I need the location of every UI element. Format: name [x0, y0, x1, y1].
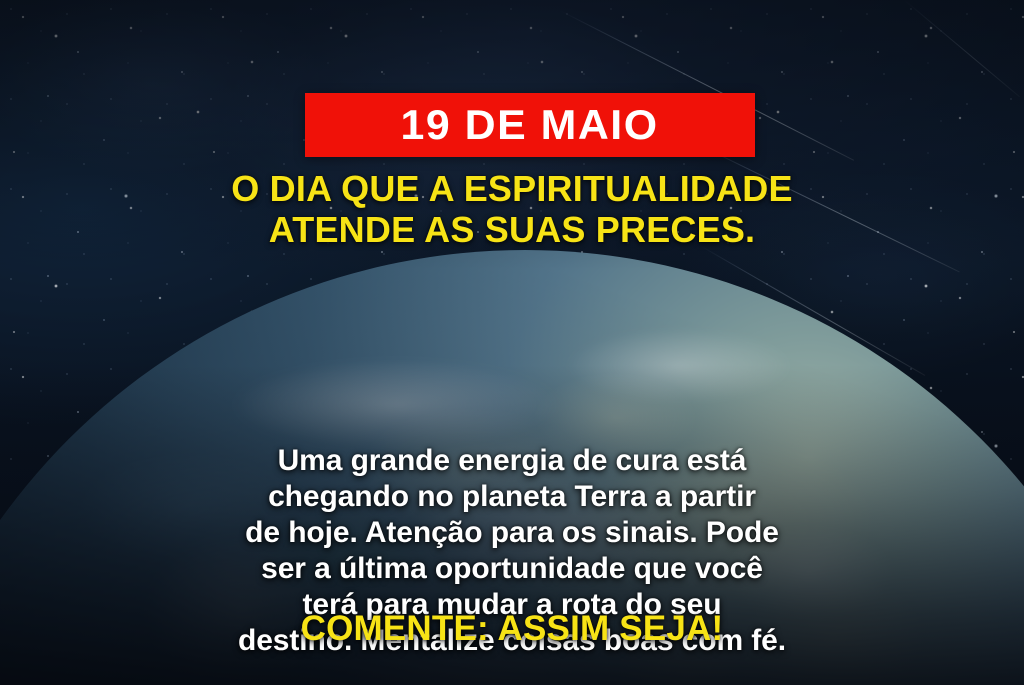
body-line-2: chegando no planeta Terra a partir	[62, 479, 962, 515]
inspirational-poster: 19 DE MAIO O DIA QUE A ESPIRITUALIDADE A…	[0, 0, 1024, 685]
headline-line-1: O DIA QUE A ESPIRITUALIDADE	[46, 168, 978, 209]
date-banner-label: 19 DE MAIO	[401, 104, 659, 146]
poster-content: 19 DE MAIO O DIA QUE A ESPIRITUALIDADE A…	[0, 0, 1024, 685]
call-to-action: COMENTE: ASSIM SEJA!	[0, 611, 1024, 646]
headline: O DIA QUE A ESPIRITUALIDADE ATENDE AS SU…	[0, 168, 1024, 250]
call-to-action-label: COMENTE: ASSIM SEJA!	[301, 609, 724, 648]
body-line-3: de hoje. Atenção para os sinais. Pode	[62, 515, 962, 551]
date-banner: 19 DE MAIO	[305, 93, 755, 157]
headline-line-2: ATENDE AS SUAS PRECES.	[46, 209, 978, 250]
body-line-1: Uma grande energia de cura está	[62, 443, 962, 479]
body-line-4: ser a última oportunidade que você	[62, 551, 962, 587]
